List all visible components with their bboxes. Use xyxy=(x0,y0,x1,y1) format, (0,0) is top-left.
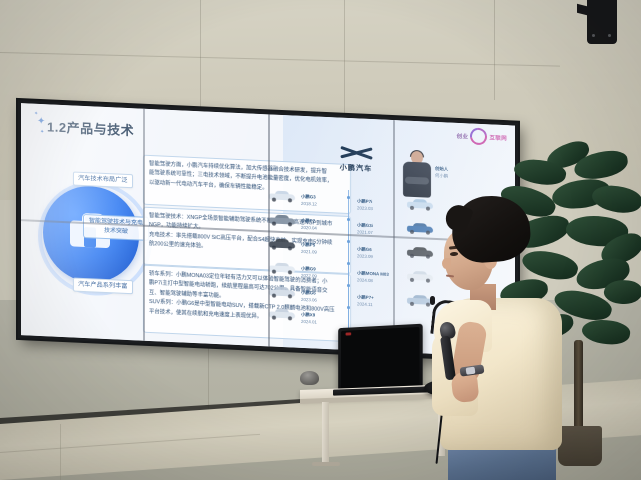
timeline-car-label: 小鹏P7 2020.04 xyxy=(301,218,317,232)
timeline-car xyxy=(269,214,295,226)
timeline-car-label: 小鹏G9 2022.09 xyxy=(301,266,317,280)
tl-r0-date: 2023.03 xyxy=(357,205,373,212)
wall-seam xyxy=(494,0,495,100)
tl-r4-date: 2024.11 xyxy=(357,301,374,308)
tl-l0-date: 2018.12 xyxy=(301,200,317,207)
timeline-car-label: 小鹏P7i 2023.03 xyxy=(357,198,373,212)
tl-l4-date: 2023.06 xyxy=(301,296,317,303)
floor-seam xyxy=(60,424,61,480)
tl-l2-date: 2021.09 xyxy=(301,248,317,255)
tl-l5-date: 2024.01 xyxy=(301,318,317,325)
timeline-car xyxy=(407,271,433,283)
xpeng-x-logo: 小鹏汽车 xyxy=(333,143,379,179)
timeline-car xyxy=(269,238,295,250)
corp-logo-left-text: 创业 xyxy=(457,131,469,140)
text-block-product-series: 轿车系列：小鹏MONA03定位年轻有活力又可以体验智能驾驶的消费者；小 鹏P7i… xyxy=(143,265,351,342)
timeline-car-label: 小鹏P7+ 2024.11 xyxy=(357,294,374,308)
timeline-car-label: 小鹏P5 2021.09 xyxy=(301,242,317,256)
screenshot-root: ✦ ✦ ✦ 1.2产品与技术 智能驾驶技术与充电 技术突破 xyxy=(0,0,641,480)
laptop[interactable] xyxy=(338,324,423,392)
presenter-nose xyxy=(442,258,451,269)
timeline-car-label: 小鹏MONA M03 2024.08 xyxy=(357,270,389,285)
desk-foot xyxy=(312,462,340,466)
timeline-car xyxy=(269,190,295,202)
founder-photo xyxy=(403,150,431,197)
tl-l3-date: 2022.09 xyxy=(301,272,317,279)
timeline-car xyxy=(269,286,295,298)
circle-label-line2: 技术突破 xyxy=(104,228,128,235)
timeline-car-label: 小鹏G6 2023.06 xyxy=(301,290,317,304)
page-title: 1.2产品与技术 xyxy=(47,116,134,139)
timeline-car-label: 小鹏X9 2024.01 xyxy=(301,312,317,326)
timeline-car xyxy=(407,247,433,259)
tl-r2-date: 2023.09 xyxy=(357,253,373,260)
star-icon: ✦ xyxy=(34,112,38,117)
timeline-car-label: 小鹏G3 2018.12 xyxy=(301,194,317,208)
timeline-car xyxy=(269,262,295,274)
star-icon: ✦ xyxy=(37,117,45,127)
brand-name: 小鹏汽车 xyxy=(333,162,379,174)
tl-l1-date: 2020.04 xyxy=(301,224,317,231)
timeline-car xyxy=(269,308,295,320)
laptop-logo-icon xyxy=(346,332,352,335)
timeline-car xyxy=(407,223,433,235)
gooseneck-microphone-tip xyxy=(430,296,435,305)
presenter-eye xyxy=(450,252,458,256)
text-block-tech-layout: 智能驾驶方面，小鹏汽车持续优化算法，加大传感器融合技术研发，提升智 能驾驶系统可… xyxy=(143,155,351,214)
timeline-car-label: 小鹏G6 2023.09 xyxy=(357,246,373,260)
founder-caption: 创始人 何小鹏 xyxy=(435,166,448,180)
star-icon: ✦ xyxy=(40,130,44,135)
text-block-driving-charging: 智能驾驶技术：XNGP全场景智能辅助驾驶系统不断迭代，从高速NGP到城市 NGP… xyxy=(143,207,351,274)
xpeng-mark-icon xyxy=(338,144,374,163)
desk-object xyxy=(300,371,319,385)
circle-label: 智能驾驶技术与充电 技术突破 xyxy=(83,214,149,241)
founder-name: 何小鹏 xyxy=(435,173,448,180)
timeline-car xyxy=(407,199,433,211)
desk-leg xyxy=(322,402,329,464)
